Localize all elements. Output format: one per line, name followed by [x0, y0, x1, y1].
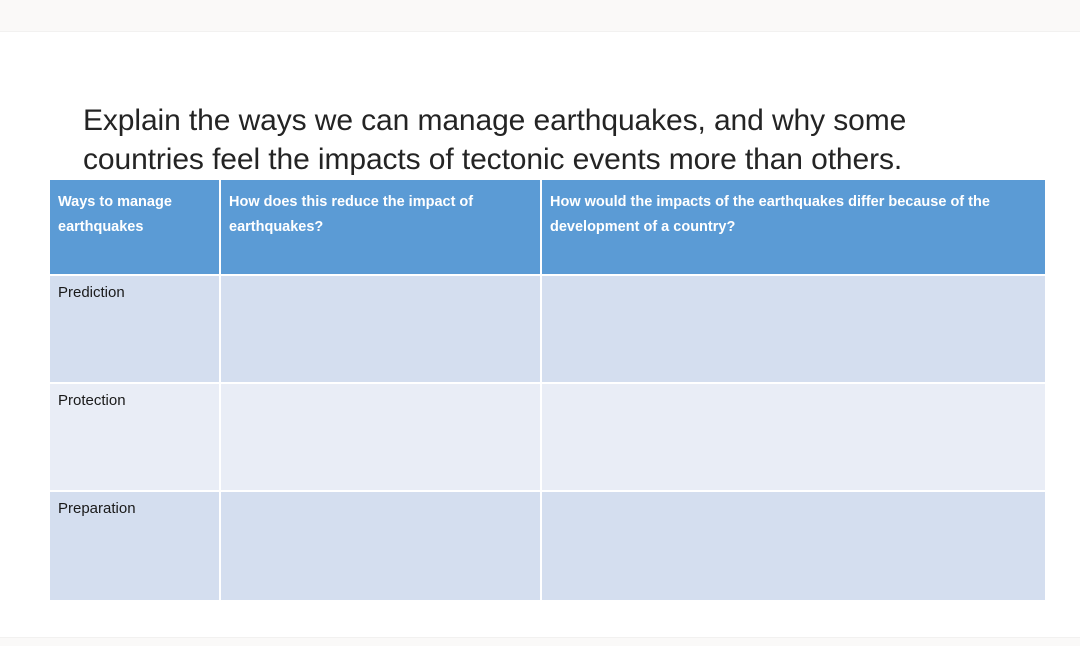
page-title: Explain the ways we can manage earthquak…	[83, 101, 1013, 179]
column-header-reduce-impact: How does this reduce the impact of earth…	[221, 180, 542, 276]
table-row: Preparation	[50, 492, 1045, 600]
top-chrome-band	[0, 0, 1080, 32]
table-row: Prediction	[50, 276, 1045, 384]
cell-prediction-development-difference[interactable]	[542, 276, 1045, 384]
table-header-row: Ways to manage earthquakes How does this…	[50, 180, 1045, 276]
column-header-ways-to-manage: Ways to manage earthquakes	[50, 180, 221, 276]
cell-prediction-reduce-impact[interactable]	[221, 276, 542, 384]
table-row: Protection	[50, 384, 1045, 492]
row-label-protection: Protection	[50, 384, 221, 492]
cell-protection-reduce-impact[interactable]	[221, 384, 542, 492]
row-label-prediction: Prediction	[50, 276, 221, 384]
slide-canvas: Explain the ways we can manage earthquak…	[0, 32, 1080, 637]
cell-protection-development-difference[interactable]	[542, 384, 1045, 492]
cell-preparation-reduce-impact[interactable]	[221, 492, 542, 600]
cell-preparation-development-difference[interactable]	[542, 492, 1045, 600]
column-header-development-difference: How would the impacts of the earthquakes…	[542, 180, 1045, 276]
row-label-preparation: Preparation	[50, 492, 221, 600]
earthquake-management-table: Ways to manage earthquakes How does this…	[50, 180, 1045, 600]
